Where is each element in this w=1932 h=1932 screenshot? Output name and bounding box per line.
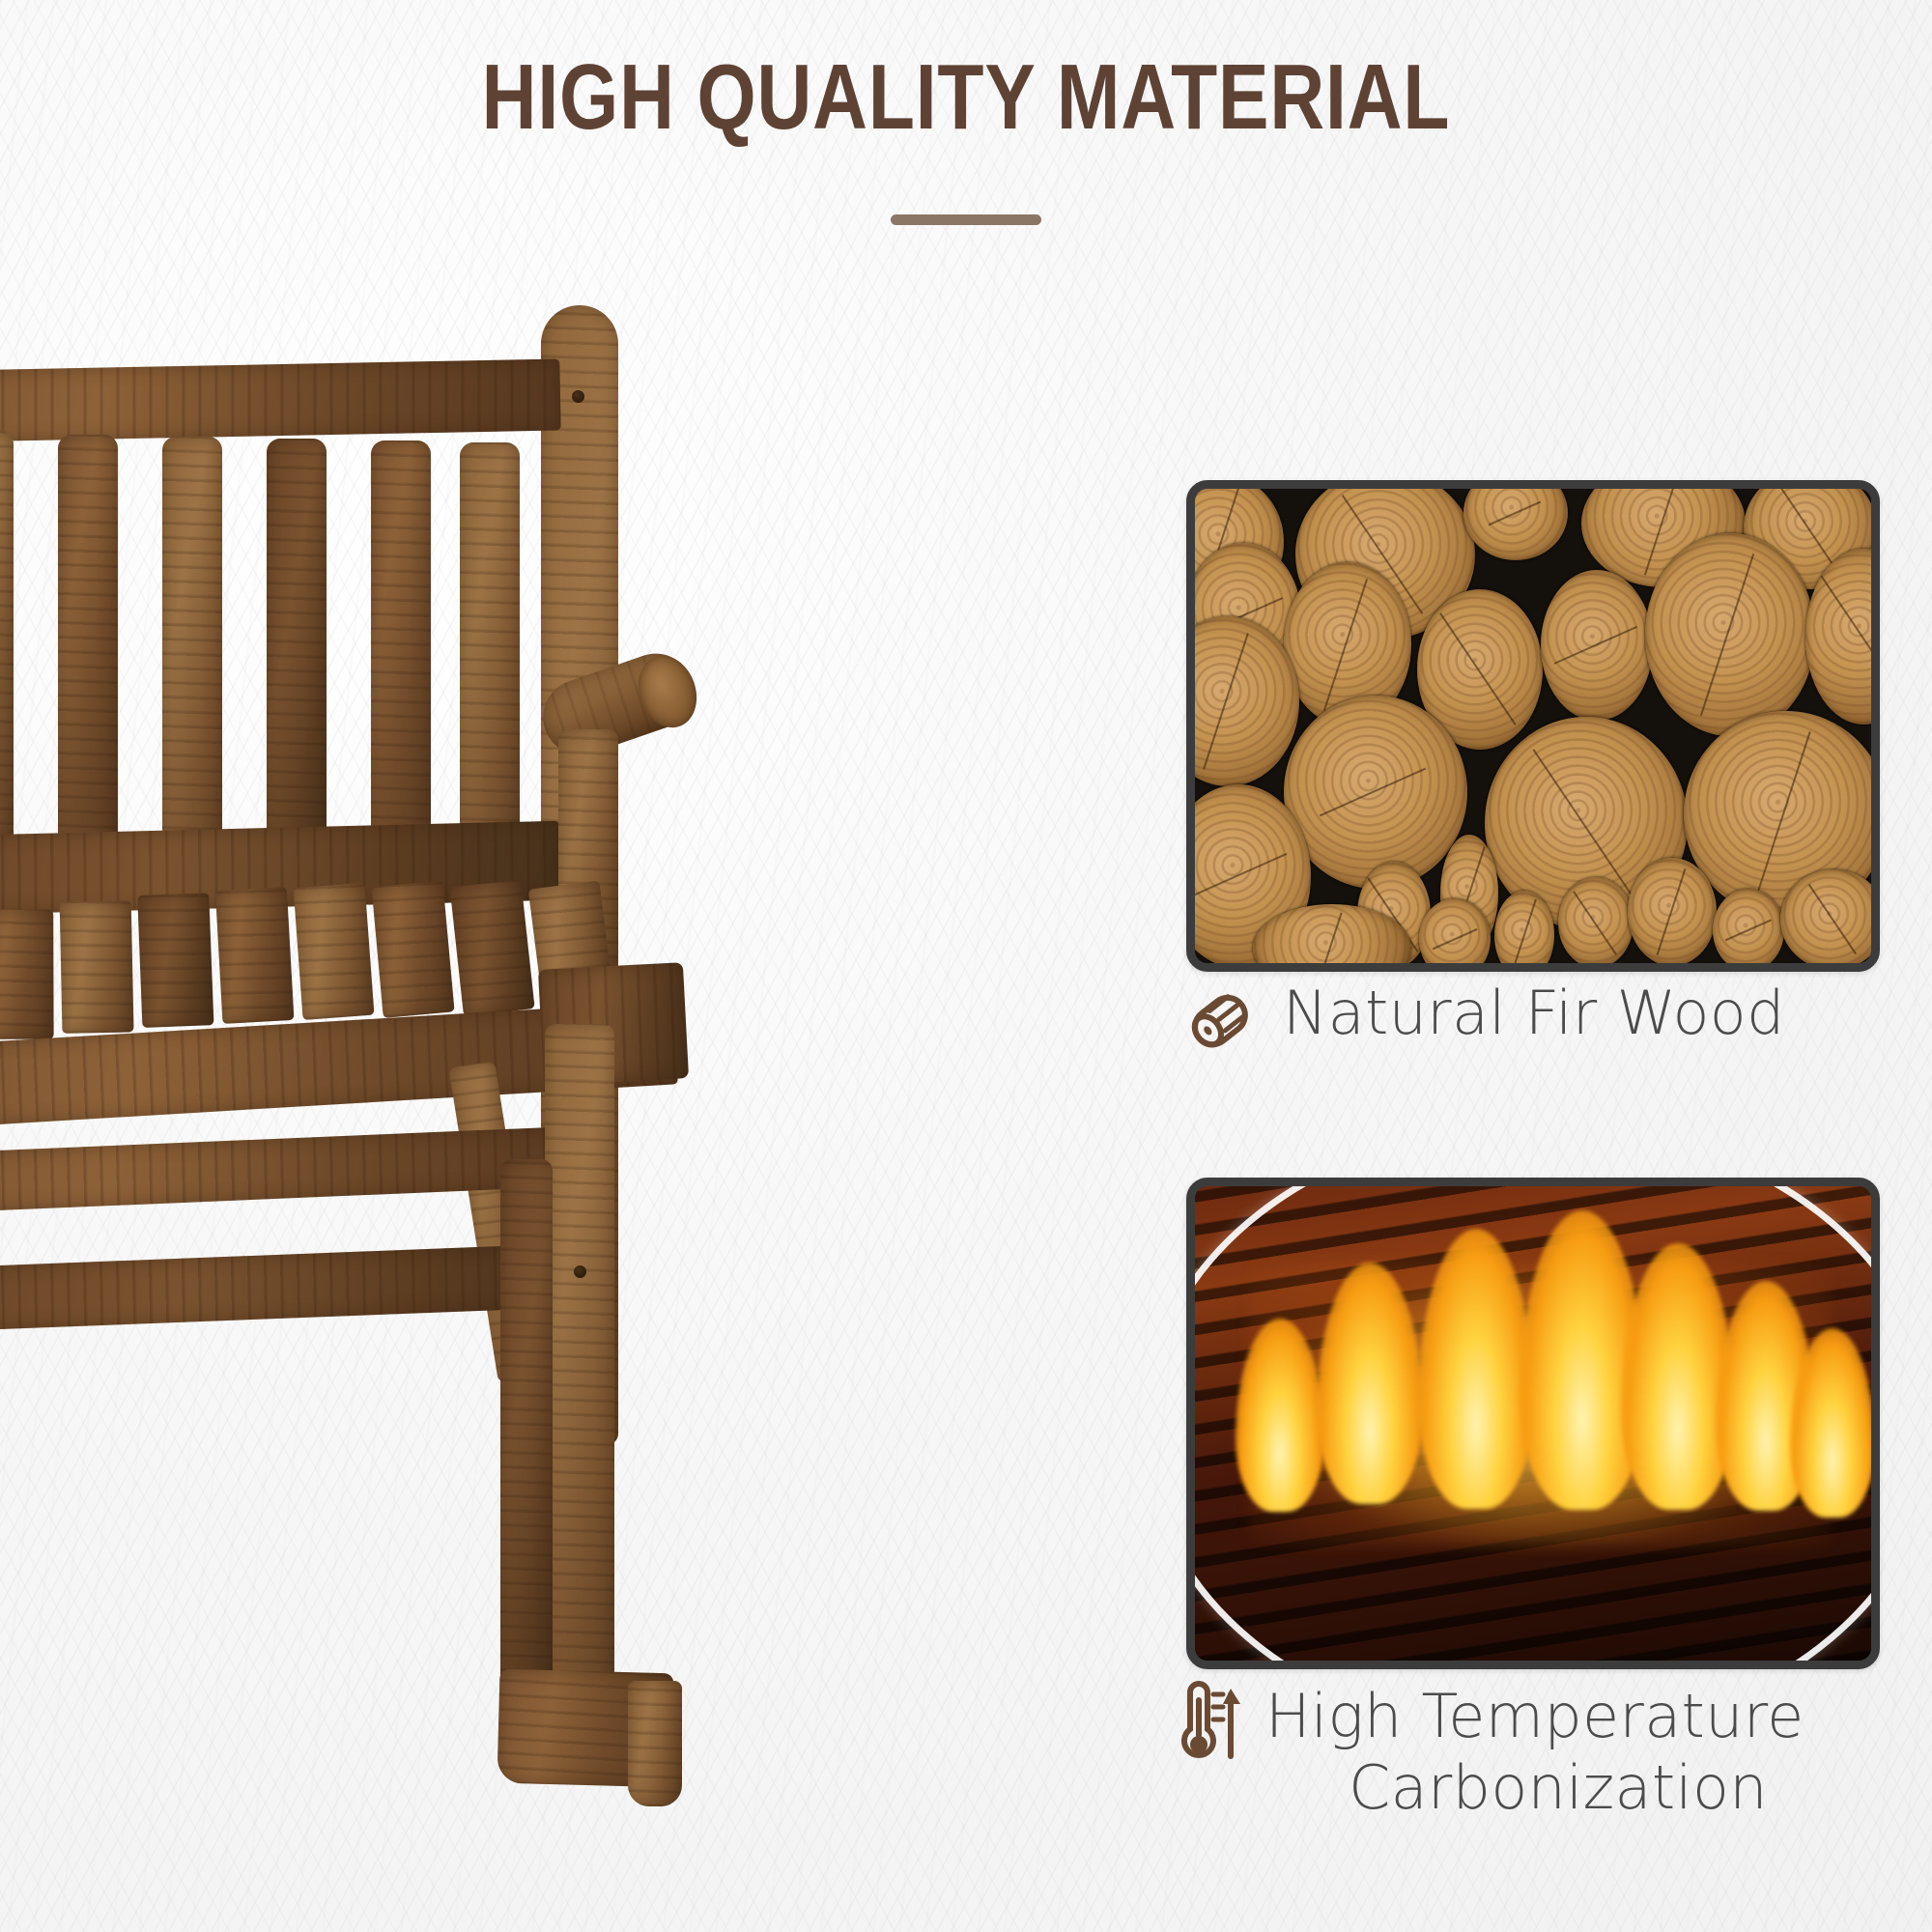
bench-backrest-slat <box>267 439 327 860</box>
log-icon <box>1186 978 1258 1061</box>
bench-seat-slat <box>137 893 213 1028</box>
bench-seat-slat <box>294 883 375 1020</box>
feature-caption-natural-fir-wood: Natural Fir Wood <box>1186 978 1872 1061</box>
log-stack-illustration <box>1195 489 1871 963</box>
bench-seat-slat <box>450 880 535 1016</box>
feature-image-high-temperature-carbonization <box>1186 1178 1880 1669</box>
bench-front-leg <box>545 1024 614 1690</box>
bench-seat-slat <box>372 881 455 1018</box>
bench-backrest-slat <box>162 437 222 858</box>
title-divider <box>891 214 1041 225</box>
product-image-rocking-bench <box>0 290 753 1932</box>
bench-seat-slat <box>215 887 295 1024</box>
bench-backrest-slat <box>0 431 14 852</box>
feature-label-line1: High Temperature <box>1265 1681 1804 1751</box>
feature-label: Natural Fir Wood <box>1283 978 1785 1049</box>
page-title: HIGH QUALITY MATERIAL <box>174 44 1758 151</box>
bench-seat-slat <box>0 910 54 1039</box>
bench-backrest-top-rail <box>0 358 561 442</box>
bench-seat-slat <box>60 900 134 1034</box>
bench-rear-leg <box>500 1159 553 1700</box>
thermometer-arrow-up-icon <box>1169 1681 1240 1764</box>
bench-backrest-slat <box>460 442 520 864</box>
highlight-ring <box>1186 1178 1880 1669</box>
bench-rocker-runner-tip <box>628 1681 682 1806</box>
infographic-canvas: HIGH QUALITY MATERIAL <box>0 0 1932 1932</box>
bench-backrest-slat <box>58 435 118 856</box>
feature-image-natural-fir-wood <box>1186 480 1880 972</box>
feature-caption-high-temperature-carbonization: High Temperature Carbonization <box>1169 1681 1884 1824</box>
feature-label-line2: Carbonization <box>1265 1752 1804 1824</box>
bench-backrest-slat <box>371 440 431 862</box>
